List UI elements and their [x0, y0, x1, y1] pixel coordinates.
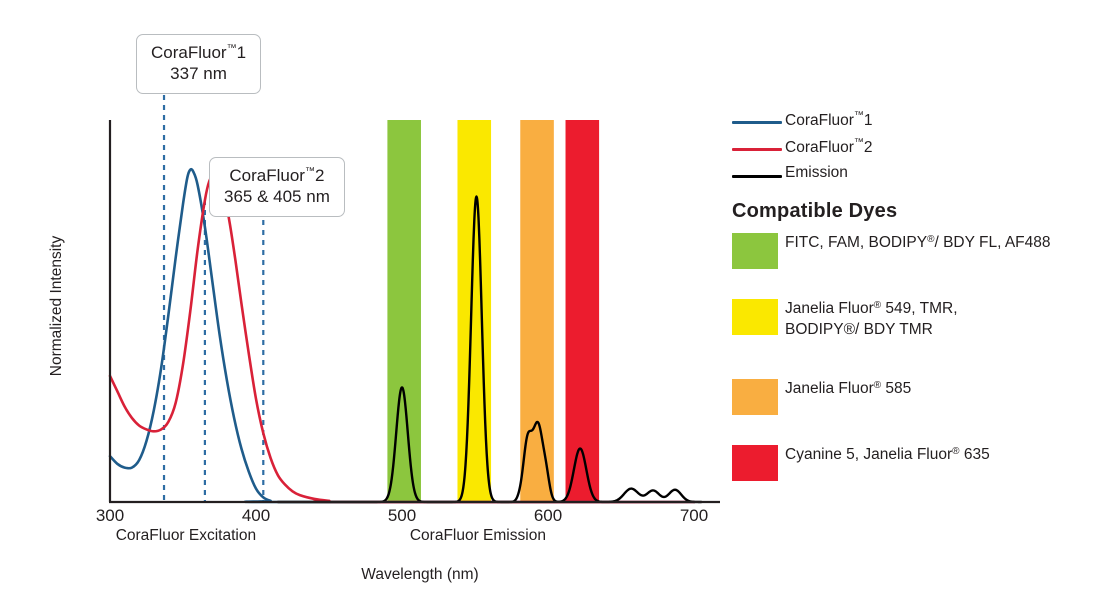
- registered-icon: ®: [952, 446, 959, 457]
- dye-row-2: Janelia Fluor® 549, TMR,BODIPY®/ BDY TMR: [728, 299, 1110, 357]
- section-label-excitation: CoraFluor Excitation: [76, 527, 296, 545]
- y-axis-title: Normalized Intensity: [48, 216, 66, 396]
- trademark-icon: ™: [854, 110, 864, 121]
- callout-cf2-suffix: 2: [315, 166, 324, 185]
- callout-corafluor2: CoraFluor™2 365 & 405 nm: [209, 157, 345, 217]
- dye-color-swatch: [732, 379, 778, 415]
- dye-color-swatch: [732, 445, 778, 481]
- dye-label: Janelia Fluor® 549, TMR,BODIPY®/ BDY TMR: [785, 299, 1105, 341]
- dye-label: Janelia Fluor® 585: [785, 379, 1105, 400]
- legend-label-suffix: 1: [864, 112, 873, 129]
- legend-label: CoraFluor™1: [785, 110, 873, 130]
- legend-row-3: Emission: [728, 164, 1110, 191]
- green-band: [387, 120, 421, 502]
- legend-label-text: CoraFluor: [785, 112, 854, 129]
- trademark-icon: ™: [305, 166, 315, 177]
- dye-label-line1b: 549, TMR,: [881, 300, 957, 317]
- dye-row-3: Janelia Fluor® 585: [728, 379, 1110, 423]
- dye-color-swatch: [732, 299, 778, 335]
- callout-cf1-name: CoraFluor: [151, 43, 227, 62]
- legend-panel: CoraFluor™1CoraFluor™2Emission Compatibl…: [728, 0, 1110, 612]
- dye-label-line1: Cyanine 5, Janelia Fluor: [785, 446, 952, 463]
- legend-row-1: CoraFluor™1: [728, 110, 1110, 137]
- legend-line-swatch: [732, 148, 782, 151]
- callout-cf1-suffix: 1: [237, 43, 246, 62]
- callout-cf2-value: 365 & 405 nm: [224, 186, 330, 207]
- x-tick-700: 700: [664, 506, 724, 526]
- section-label-emission: CoraFluor Emission: [368, 527, 588, 545]
- legend-row-2: CoraFluor™2: [728, 137, 1110, 164]
- trademark-icon: ™: [854, 137, 864, 148]
- x-tick-500: 500: [372, 506, 432, 526]
- dye-label-line1: Janelia Fluor: [785, 300, 874, 317]
- dye-label-line1b: 585: [881, 380, 911, 397]
- x-tick-600: 600: [518, 506, 578, 526]
- dye-label-line1b: 635: [960, 446, 990, 463]
- legend-line-swatch: [732, 175, 782, 178]
- legend-label: CoraFluor™2: [785, 137, 873, 157]
- x-axis-title: Wavelength (nm): [280, 566, 560, 584]
- dye-label-line1b: / BDY FL, AF488: [934, 234, 1050, 251]
- legend-label-text: Emission: [785, 164, 848, 181]
- callout-cf1-value: 337 nm: [151, 63, 246, 84]
- x-tick-400: 400: [226, 506, 286, 526]
- compatible-dyes-list: FITC, FAM, BODIPY®/ BDY FL, AF488Janelia…: [728, 233, 1110, 511]
- legend-label-suffix: 2: [864, 139, 873, 156]
- dye-label-line1: Janelia Fluor: [785, 380, 874, 397]
- red-band: [566, 120, 600, 502]
- series-legend: CoraFluor™1CoraFluor™2Emission: [728, 110, 1110, 191]
- chart-figure: CoraFluor™1 337 nm CoraFluor™2 365 & 405…: [0, 0, 1110, 612]
- dye-label-line1: FITC, FAM, BODIPY: [785, 234, 927, 251]
- dye-row-1: FITC, FAM, BODIPY®/ BDY FL, AF488: [728, 233, 1110, 277]
- dye-label-line2: BODIPY®/ BDY TMR: [785, 320, 1105, 341]
- x-tick-300: 300: [80, 506, 140, 526]
- dye-color-swatch: [732, 233, 778, 269]
- trademark-icon: ™: [227, 43, 237, 54]
- dye-row-4: Cyanine 5, Janelia Fluor® 635: [728, 445, 1110, 489]
- callout-cf2-name: CoraFluor: [229, 166, 305, 185]
- compatible-dyes-title: Compatible Dyes: [732, 200, 897, 223]
- dye-label: Cyanine 5, Janelia Fluor® 635: [785, 445, 1105, 466]
- dye-label: FITC, FAM, BODIPY®/ BDY FL, AF488: [785, 233, 1105, 254]
- callout-corafluor1: CoraFluor™1 337 nm: [136, 34, 261, 94]
- legend-line-swatch: [732, 121, 782, 124]
- legend-label-text: CoraFluor: [785, 139, 854, 156]
- legend-label: Emission: [785, 164, 848, 182]
